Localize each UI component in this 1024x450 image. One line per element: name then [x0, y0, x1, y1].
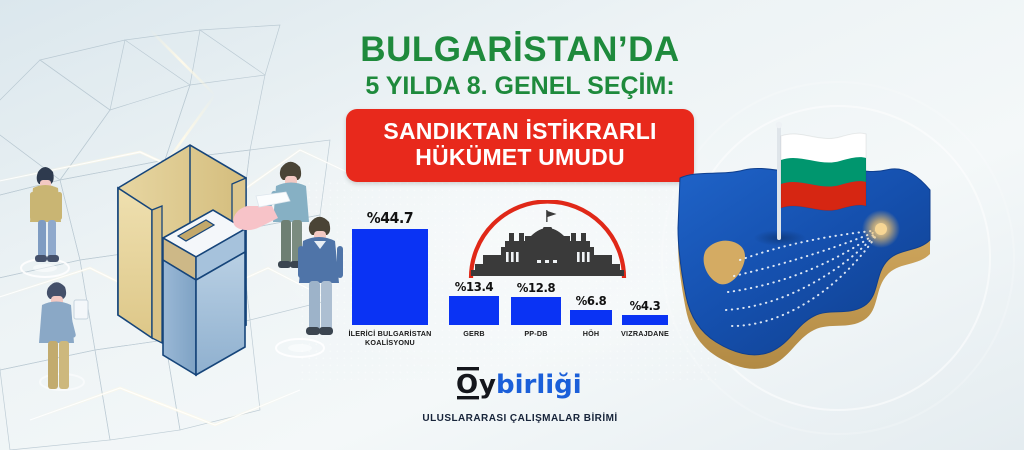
bar-column-3: %6.8 HÖH: [570, 293, 612, 325]
svg-text:birliği: birliği: [496, 370, 582, 400]
svg-text:y: y: [479, 370, 496, 400]
bar-label-0-line1: İLERİCİ BULGARİSTAN: [348, 329, 431, 338]
red-banner: SANDIKTAN İSTİKRARLI HÜKÜMET UMUDU: [346, 109, 694, 183]
figure-voter-left: [30, 167, 62, 272]
bar-column-2: %12.8 PP-DB: [511, 280, 561, 325]
hand-icon: [233, 206, 278, 230]
bar-label-1: GERB: [463, 329, 485, 338]
ballot-paper: [74, 300, 88, 319]
voting-booth: [118, 145, 246, 375]
page-subtitle: 5 YILDA 8. GENEL SEÇİM:: [330, 72, 710, 101]
bar-group: %44.7 İLERİCİ BULGARİSTAN KOALİSYONU %13…: [352, 207, 682, 325]
city-marker: [875, 223, 887, 235]
bulgaria-flag: [781, 133, 866, 210]
bar-column-1: %13.4 GERB: [449, 279, 499, 325]
bar-rect-1: [449, 296, 499, 325]
bar-column-0: %44.7 İLERİCİ BULGARİSTAN KOALİSYONU: [352, 209, 428, 325]
flag-pole-finial: [776, 122, 782, 128]
bar-value-2: %12.8: [513, 280, 560, 295]
bar-value-3: %6.8: [571, 293, 610, 308]
bar-rect-0: [352, 229, 428, 325]
bar-label-3: HÖH: [583, 329, 600, 338]
brand-logo: O y birliği ULUSLARARASI ÇALIŞMALAR BİRİ…: [330, 366, 710, 424]
bar-rect-2: [511, 297, 561, 325]
figure-voter-reading: [39, 282, 88, 389]
voting-booth-illustration: [0, 110, 350, 400]
bar-label-0-line2: KOALİSYONU: [365, 338, 415, 347]
infographic-canvas: BULGARİSTAN’DA 5 YILDA 8. GENEL SEÇİM: S…: [0, 0, 1024, 450]
flag-pole: [777, 126, 781, 240]
oybirligi-wordmark-icon: O y birliği: [454, 366, 586, 400]
banner-line-1: SANDIKTAN İSTİKRARLI: [362, 118, 678, 145]
bar-label-2: PP-DB: [524, 329, 547, 338]
page-title: BULGARİSTAN’DA: [330, 32, 710, 69]
bar-value-0: %44.7: [355, 209, 426, 227]
bar-rect-3: [570, 310, 612, 325]
svg-text:O: O: [456, 370, 478, 400]
bar-value-1: %13.4: [451, 279, 498, 294]
figure-voter-right: [298, 217, 343, 335]
election-results-chart: %44.7 İLERİCİ BULGARİSTAN KOALİSYONU %13…: [352, 195, 682, 350]
bulgaria-map-graphic: [648, 120, 1024, 400]
banner-line-2: HÜKÜMET UMUDU: [362, 144, 678, 171]
bar-label-0: İLERİCİ BULGARİSTAN KOALİSYONU: [348, 329, 431, 347]
brand-tagline: ULUSLARARASI ÇALIŞMALAR BİRİMİ: [330, 413, 710, 424]
